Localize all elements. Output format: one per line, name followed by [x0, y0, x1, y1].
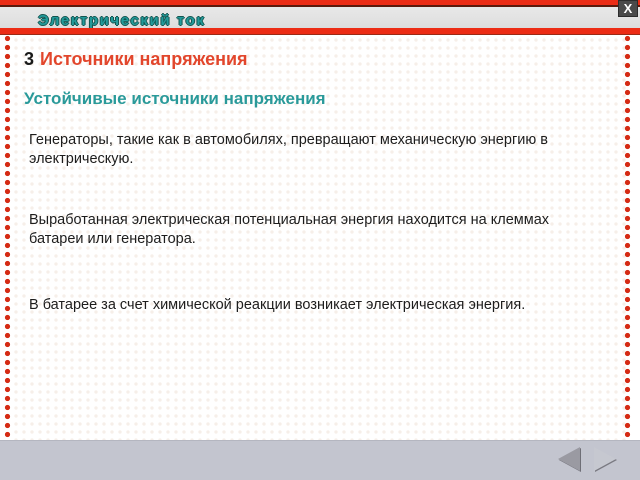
left-dotted-border	[4, 35, 11, 440]
section-subheading: Устойчивые источники напряжения	[24, 88, 326, 109]
section-heading: 3Источники напряжения	[24, 48, 248, 70]
close-icon: X	[624, 2, 633, 15]
presentation-slide: Электрический ток X 3Источники напряжени…	[0, 0, 640, 480]
body-paragraph-1: Генераторы, такие как в автомобилях, пре…	[29, 131, 589, 169]
section-title: Источники напряжения	[40, 49, 248, 69]
slide-body: 3Источники напряжения Устойчивые источни…	[0, 35, 640, 440]
triangle-left-icon	[558, 447, 580, 471]
triangle-right-icon	[594, 447, 616, 471]
slide-title: Электрический ток	[38, 13, 206, 28]
slide-footer	[0, 440, 640, 480]
section-number: 3	[24, 49, 34, 69]
right-dotted-border	[624, 35, 631, 440]
previous-slide-button[interactable]	[556, 445, 586, 473]
body-paragraph-3: В батарее за счет химической реакции воз…	[29, 296, 589, 315]
close-button[interactable]: X	[618, 0, 638, 17]
slide-navigation	[556, 445, 626, 475]
slide-header-band: Электрический ток	[0, 7, 640, 28]
body-paragraph-2: Выработанная электрическая потенциальная…	[29, 211, 589, 249]
next-slide-button[interactable]	[590, 445, 620, 473]
